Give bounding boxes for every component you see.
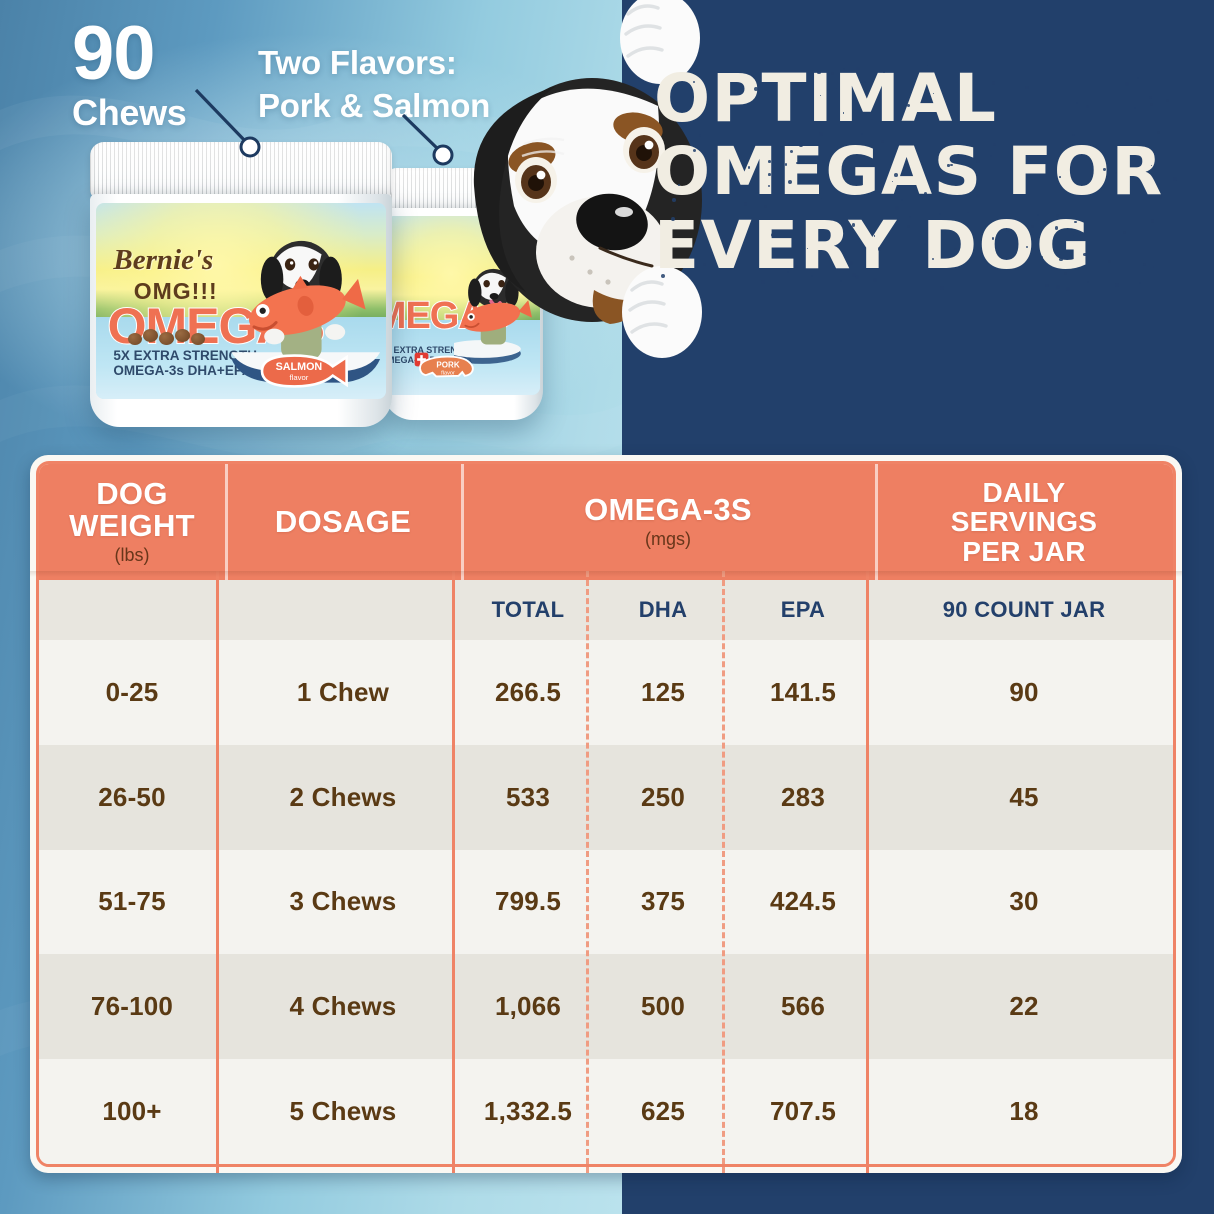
cell-dosage: 4 Chews xyxy=(225,954,461,1059)
table-row: 76-100 4 Chews 1,066 500 566 22 xyxy=(39,954,1173,1059)
dosage-table-inner: DOG WEIGHT (lbs) DOSAGE OMEGA-3S (mgs) D… xyxy=(36,461,1176,1167)
flavors-line-1: Two Flavors: xyxy=(258,42,490,85)
table-subheader-row: TOTAL DHA EPA 90 COUNT JAR xyxy=(39,580,1173,640)
column-header-dog-weight: DOG WEIGHT (lbs) xyxy=(39,464,225,580)
column-header-daily-servings: DAILY SERVINGS PER JAR xyxy=(875,464,1173,580)
salmon-badge-name: SALMON xyxy=(276,361,323,373)
table-row: 51-75 3 Chews 799.5 375 424.5 30 xyxy=(39,850,1173,955)
table-row: 100+ 5 Chews 1,332.5 625 707.5 18 xyxy=(39,1059,1173,1164)
cell-servings: 18 xyxy=(875,1059,1173,1164)
column-header-dosage: DOSAGE xyxy=(225,464,461,580)
servings-line-3: PER JAR xyxy=(962,537,1085,566)
cell-weight: 0-25 xyxy=(39,640,225,745)
subheader-weight xyxy=(39,580,225,640)
subheader-total: TOTAL xyxy=(461,580,595,640)
headline: OPTIMAL OMEGAS FOR EVERY DOG xyxy=(654,62,1194,282)
cell-weight: 51-75 xyxy=(39,850,225,955)
cell-dha: 625 xyxy=(595,1059,731,1164)
jar-body-salmon: Bernie's OMG!!! OMEGAS 5X EXTRA STRENGTH… xyxy=(90,194,392,427)
cell-epa: 141.5 xyxy=(731,640,875,745)
subheader-dosage xyxy=(225,580,461,640)
cell-total: 1,066 xyxy=(461,954,595,1059)
cell-total: 1,332.5 xyxy=(461,1059,595,1164)
cell-epa: 424.5 xyxy=(731,850,875,955)
cell-epa: 566 xyxy=(731,954,875,1059)
jar-lid-salmon xyxy=(90,142,392,198)
cell-servings: 30 xyxy=(875,850,1173,955)
omega-title: OMEGA-3S xyxy=(584,494,752,526)
salmon-flavor-badge: SALMON flavor xyxy=(255,351,349,391)
cell-servings: 45 xyxy=(875,745,1173,850)
cell-weight: 26-50 xyxy=(39,745,225,850)
cell-weight: 100+ xyxy=(39,1059,225,1164)
chews-count-label: Chews xyxy=(72,95,187,131)
cell-dosage: 3 Chews xyxy=(225,850,461,955)
cell-dha: 500 xyxy=(595,954,731,1059)
chews-count-number: 90 xyxy=(72,18,187,91)
subheader-servings: 90 COUNT JAR xyxy=(875,580,1173,640)
cell-dha: 250 xyxy=(595,745,731,850)
dosage-title: DOSAGE xyxy=(275,506,411,538)
chews-count-callout: 90 Chews xyxy=(72,18,187,131)
product-jar-salmon: Bernie's OMG!!! OMEGAS 5X EXTRA STRENGTH… xyxy=(90,142,392,427)
cell-epa: 707.5 xyxy=(731,1059,875,1164)
subheader-dha: DHA xyxy=(595,580,731,640)
jar-brand-name: Bernie's xyxy=(113,244,213,277)
cell-dosage: 2 Chews xyxy=(225,745,461,850)
salmon-badge-word: flavor xyxy=(290,373,309,382)
servings-line-2: SERVINGS xyxy=(951,507,1098,536)
jar-label-salmon: Bernie's OMG!!! OMEGAS 5X EXTRA STRENGTH… xyxy=(96,203,386,399)
cell-epa: 283 xyxy=(731,745,875,850)
cell-dha: 125 xyxy=(595,640,731,745)
table-body: 0-25 1 Chew 266.5 125 141.5 90 26-50 2 C… xyxy=(39,640,1173,1164)
cell-total: 266.5 xyxy=(461,640,595,745)
servings-line-1: DAILY xyxy=(983,478,1066,507)
cell-total: 533 xyxy=(461,745,595,850)
flavors-callout: Two Flavors: Pork & Salmon xyxy=(258,42,490,128)
column-header-omega-3s: OMEGA-3S (mgs) xyxy=(461,464,875,580)
cell-servings: 22 xyxy=(875,954,1173,1059)
cell-servings: 90 xyxy=(875,640,1173,745)
dosage-table: DOG WEIGHT (lbs) DOSAGE OMEGA-3S (mgs) D… xyxy=(30,455,1182,1173)
flavors-line-2: Pork & Salmon xyxy=(258,85,490,128)
dog-weight-line-2: WEIGHT xyxy=(69,510,195,542)
subheader-epa: EPA xyxy=(731,580,875,640)
cell-total: 799.5 xyxy=(461,850,595,955)
omega-unit: (mgs) xyxy=(645,529,691,550)
table-row: 26-50 2 Chews 533 250 283 45 xyxy=(39,745,1173,850)
table-row: 0-25 1 Chew 266.5 125 141.5 90 xyxy=(39,640,1173,745)
cell-dosage: 5 Chews xyxy=(225,1059,461,1164)
dog-weight-unit: (lbs) xyxy=(115,545,150,566)
cell-weight: 76-100 xyxy=(39,954,225,1059)
table-header-row: DOG WEIGHT (lbs) DOSAGE OMEGA-3S (mgs) D… xyxy=(39,464,1173,580)
headline-line-1: OPTIMAL xyxy=(654,62,1194,135)
headline-line-2: OMEGAS FOR xyxy=(654,135,1194,208)
dog-weight-line-1: DOG xyxy=(96,478,168,510)
cell-dosage: 1 Chew xyxy=(225,640,461,745)
infographic-root: 90 Chews Two Flavors: Pork & Salmon OMEG… xyxy=(0,0,1214,1214)
headline-line-3: EVERY DOG xyxy=(654,209,1194,282)
cell-dha: 375 xyxy=(595,850,731,955)
